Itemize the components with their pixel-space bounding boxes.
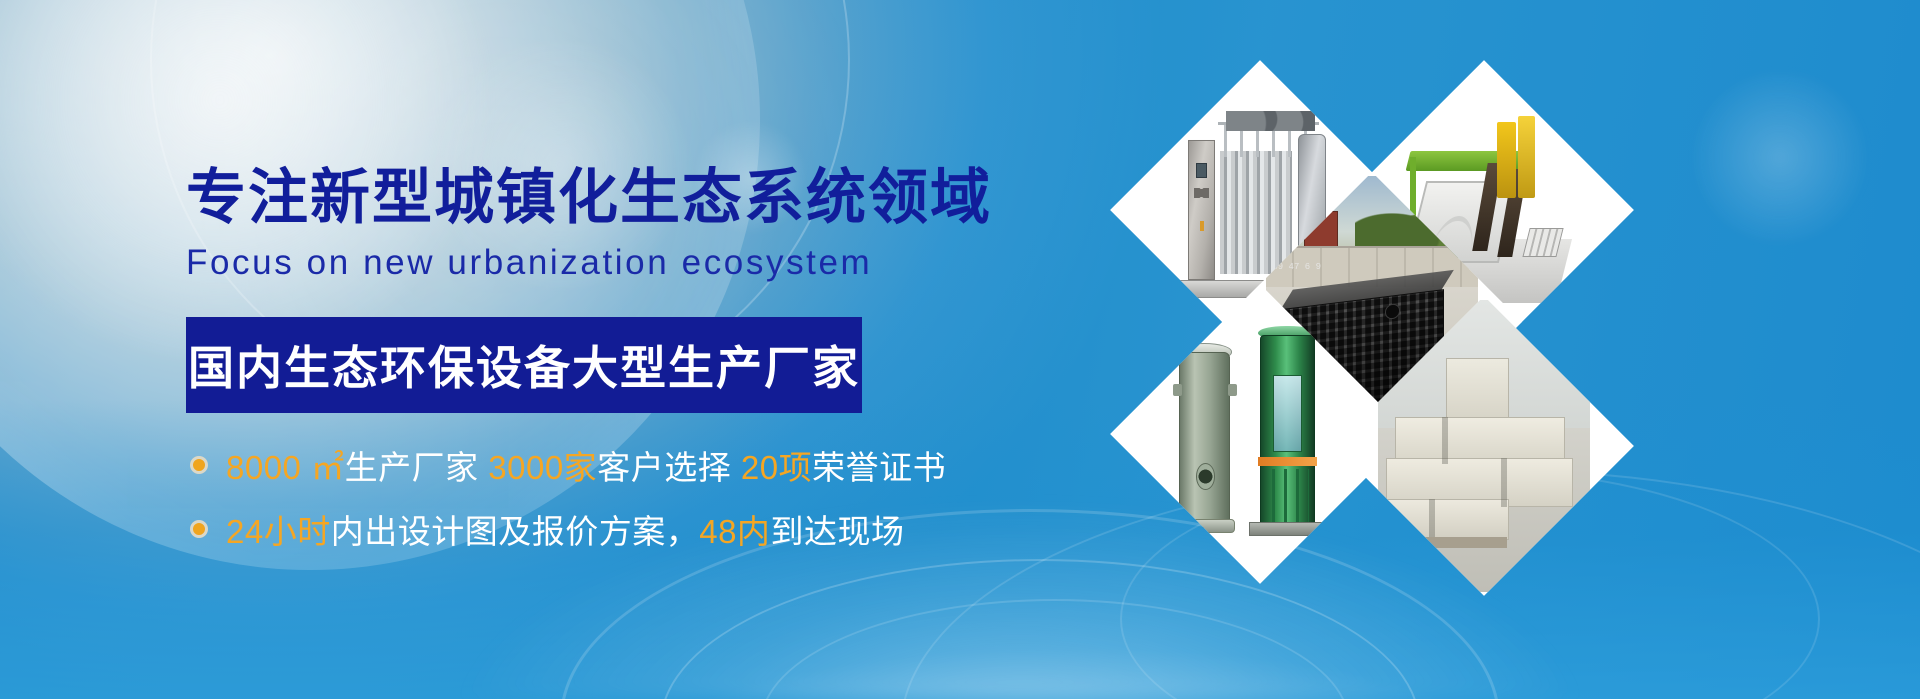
banner-bullet-list: 8000 ㎡生产厂家 3000家客户选择 20项荣誉证书 24小时内出设计图及报…: [186, 441, 906, 553]
bullet-text: 8000 ㎡生产厂家 3000家客户选择 20项荣誉证书: [226, 441, 946, 489]
banner-subheadline: Focus on new urbanization ecosystem: [186, 243, 906, 283]
bullet-accent-text: 3000家: [488, 449, 597, 486]
bullet-item: 24小时内出设计图及报价方案，48内到达现场: [186, 505, 906, 553]
bullet-plain-text: 客户选择: [597, 449, 741, 486]
bullet-accent-text: 24小时: [226, 513, 331, 550]
banner-headline: 专注新型城镇化生态系统领域: [186, 166, 906, 231]
hero-banner: 专注新型城镇化生态系统领域 Focus on new urbanization …: [0, 0, 1920, 699]
product-diamond-gallery: 39 47 6 9: [1140, 60, 1840, 699]
bullet-plain-text: 内出设计图及报价方案，: [331, 513, 700, 550]
bullet-accent-text: 48内: [699, 513, 770, 550]
banner-highlight-box: 国内生态环保设备大型生产厂家: [186, 317, 862, 413]
bullet-accent-text: 20项: [741, 449, 812, 486]
photo-overlay-text: 39 47 6 9: [1272, 263, 1323, 292]
bullet-plain-text: 生产厂家: [345, 449, 489, 486]
banner-text-column: 专注新型城镇化生态系统领域 Focus on new urbanization …: [186, 166, 906, 569]
bullet-plain-text: 到达现场: [770, 513, 904, 550]
bullet-accent-text: 8000 ㎡: [226, 449, 345, 486]
bullet-plain-text: 荣誉证书: [812, 449, 946, 486]
bullet-item: 8000 ㎡生产厂家 3000家客户选择 20项荣誉证书: [186, 441, 906, 489]
bullet-text: 24小时内出设计图及报价方案，48内到达现场: [226, 505, 904, 553]
banner-highlight-box-text: 国内生态环保设备大型生产厂家: [188, 332, 860, 398]
bullet-dot-icon: [190, 456, 208, 474]
bullet-dot-icon: [190, 520, 208, 538]
